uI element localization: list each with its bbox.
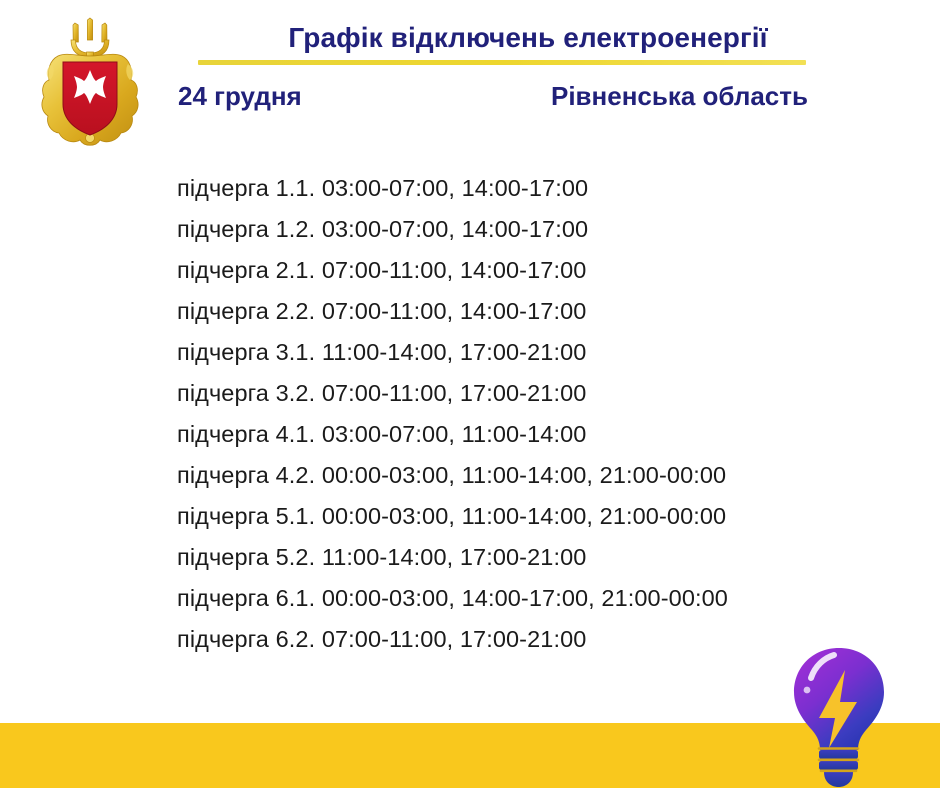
schedule-row: підчерга 2.2. 07:00-11:00, 14:00-17:00 (177, 291, 917, 332)
schedule-row: підчерга 1.1. 03:00-07:00, 14:00-17:00 (177, 168, 917, 209)
schedule-row: підчерга 5.1. 00:00-03:00, 11:00-14:00, … (177, 496, 917, 537)
lightbulb-icon (779, 640, 899, 788)
page-title: Графік відключень електроенергії (178, 22, 878, 54)
outage-schedule-poster: Графік відключень електроенергії 24 груд… (0, 0, 940, 788)
schedule-row: підчерга 1.2. 03:00-07:00, 14:00-17:00 (177, 209, 917, 250)
schedule-row: підчерга 3.1. 11:00-14:00, 17:00-21:00 (177, 332, 917, 373)
schedule-row: підчерга 2.1. 07:00-11:00, 14:00-17:00 (177, 250, 917, 291)
region-name: Рівненська область (551, 81, 808, 112)
schedule-row: підчерга 3.2. 07:00-11:00, 17:00-21:00 (177, 373, 917, 414)
schedule-row: підчерга 5.2. 11:00-14:00, 17:00-21:00 (177, 537, 917, 578)
rivne-oblast-coat-of-arms-icon (30, 12, 150, 154)
poster-header: Графік відключень електроенергії 24 груд… (178, 22, 878, 112)
schedule-date: 24 грудня (178, 81, 302, 112)
subheader-row: 24 грудня Рівненська область (178, 81, 878, 112)
outage-schedule-list: підчерга 1.1. 03:00-07:00, 14:00-17:00 п… (177, 168, 917, 660)
title-underline-rule (198, 60, 806, 65)
schedule-row: підчерга 4.1. 03:00-07:00, 11:00-14:00 (177, 414, 917, 455)
schedule-row: підчерга 6.1. 00:00-03:00, 14:00-17:00, … (177, 578, 917, 619)
schedule-row: підчерга 4.2. 00:00-03:00, 11:00-14:00, … (177, 455, 917, 496)
